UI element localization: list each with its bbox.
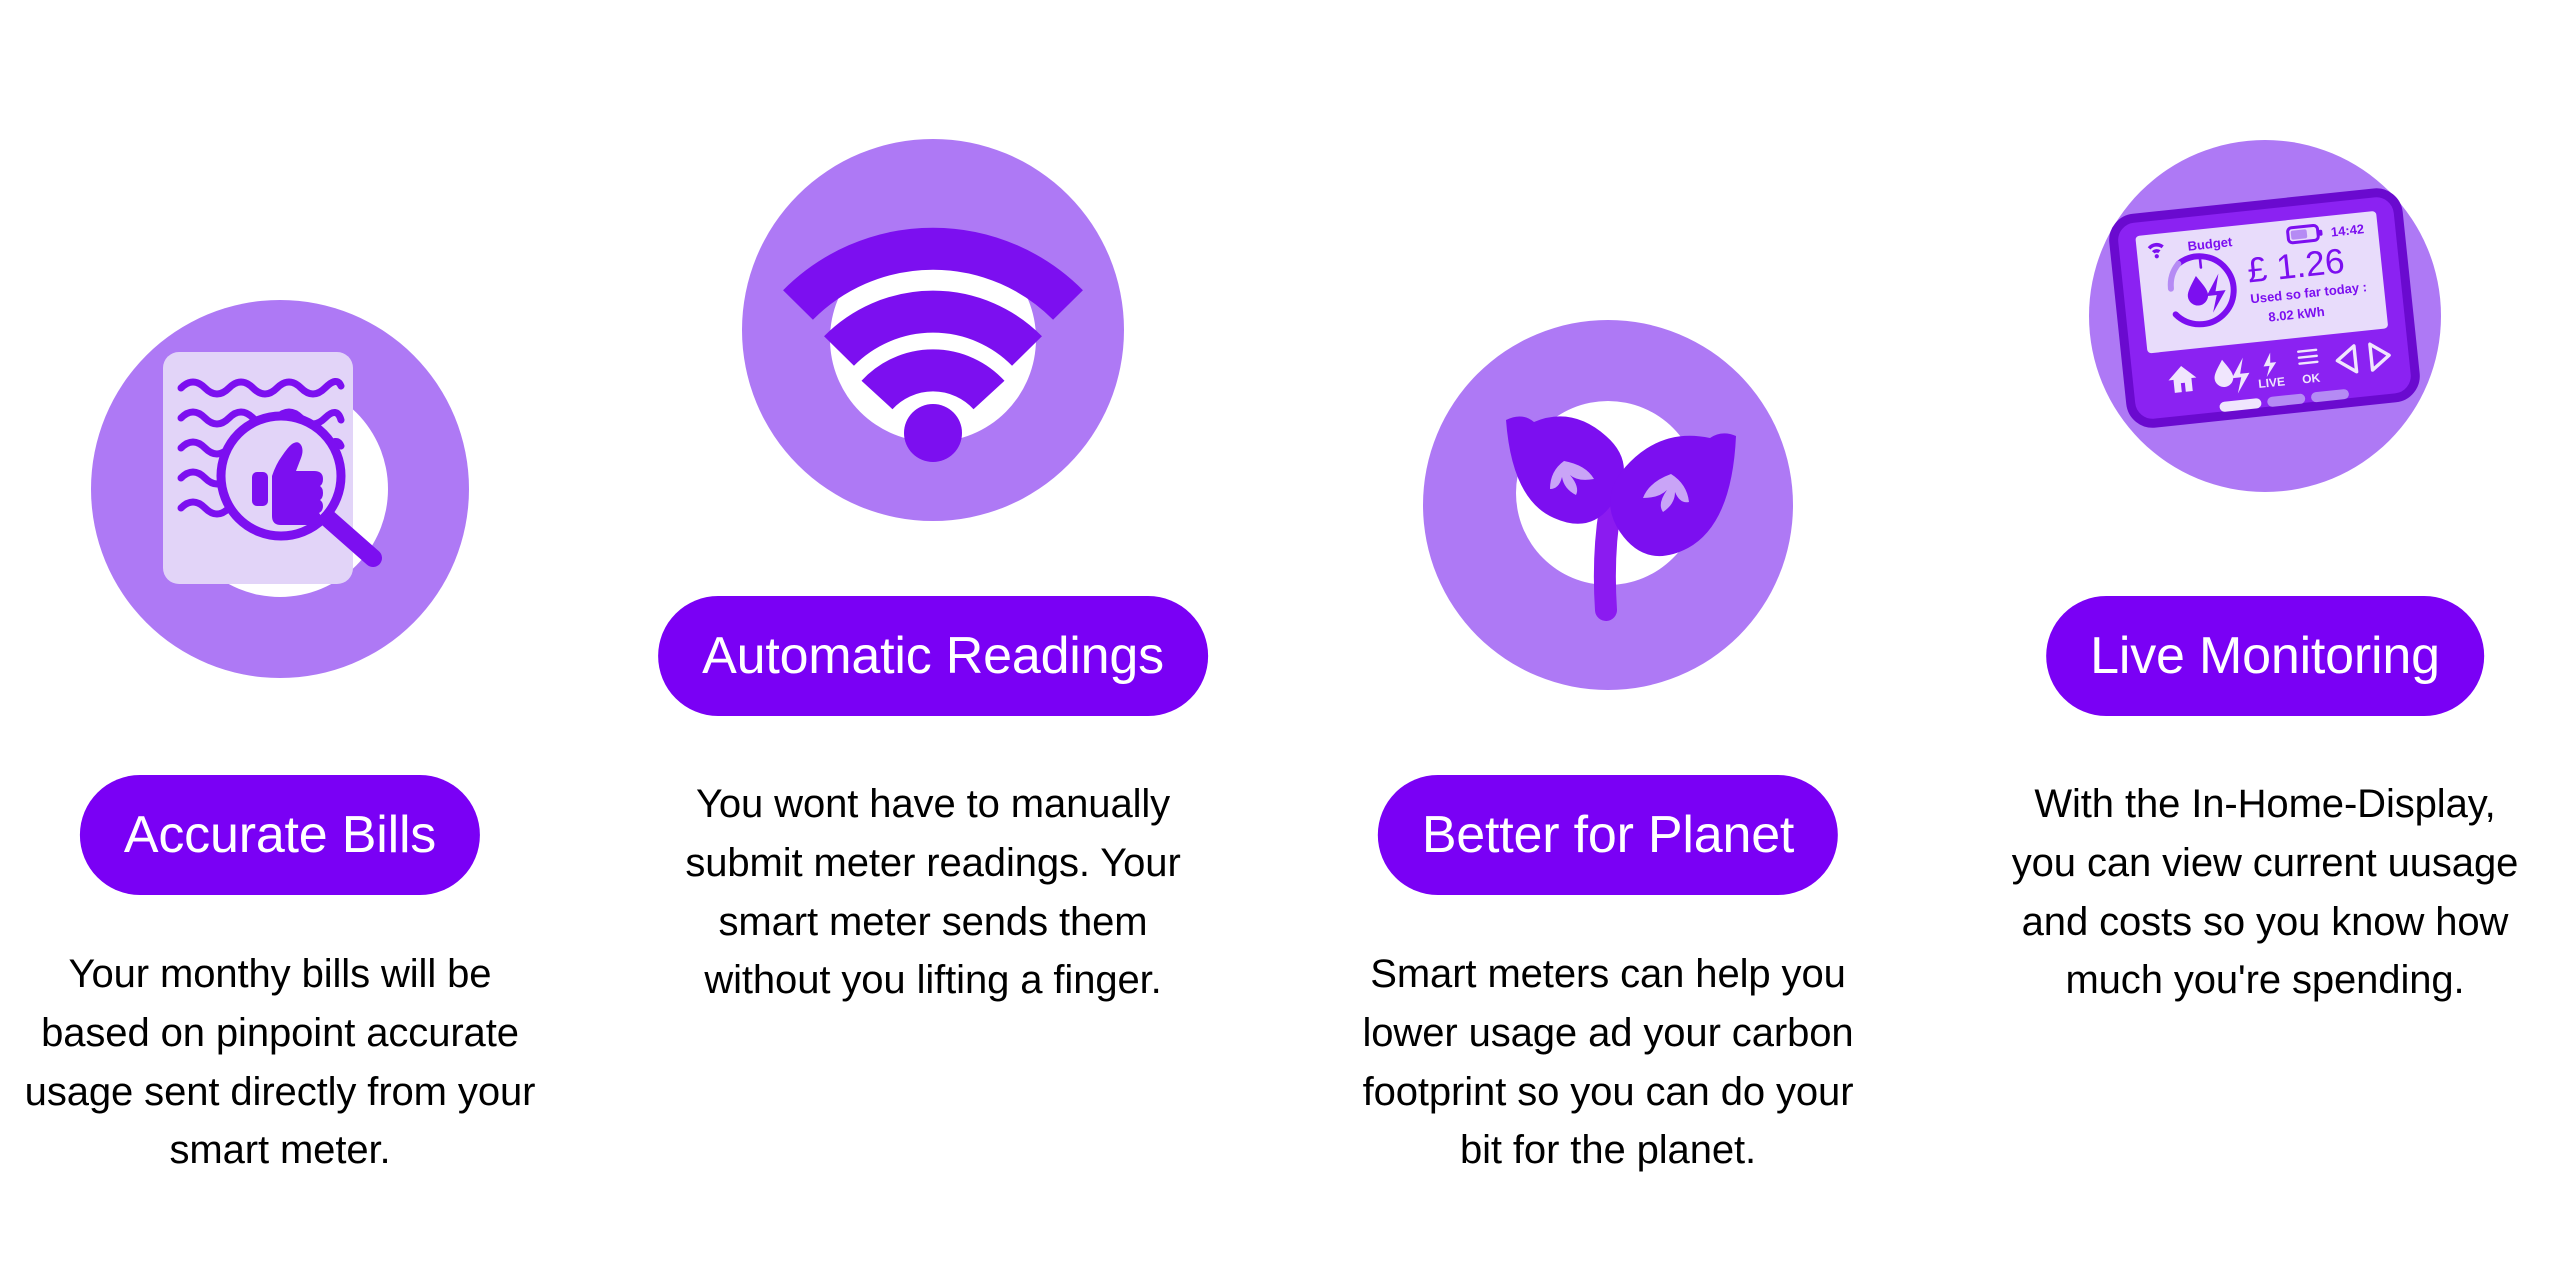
document-magnifier-thumbs-up-icon xyxy=(91,300,469,678)
icon-circle-live-monitoring: Budget 14:42 xyxy=(2089,140,2441,492)
in-home-display-device-icon: Budget 14:42 xyxy=(2100,181,2430,451)
icon-wrap-automatic-readings xyxy=(742,139,1124,521)
infographic-board: Accurate Bills Your monthy bills will be… xyxy=(0,0,2561,1282)
icon-circle-accurate-bills xyxy=(91,300,469,678)
wifi-signal-icon xyxy=(742,139,1124,521)
feature-column-accurate-bills: Accurate Bills Your monthy bills will be… xyxy=(0,0,560,1282)
icon-wrap-better-for-planet xyxy=(1423,320,1793,690)
heading-label: Accurate Bills xyxy=(124,805,436,865)
icon-wrap-accurate-bills xyxy=(91,300,469,678)
ihd-nav-ok-label: OK xyxy=(2301,371,2321,387)
body-text-accurate-bills: Your monthy bills will be based on pinpo… xyxy=(0,945,560,1180)
feature-column-automatic-readings: Automatic Readings You wont have to manu… xyxy=(653,0,1213,1282)
feature-column-live-monitoring: Budget 14:42 xyxy=(1985,0,2545,1282)
icon-wrap-live-monitoring: Budget 14:42 xyxy=(2089,140,2441,492)
body-text-better-for-planet: Smart meters can help you lower usage ad… xyxy=(1328,945,1888,1180)
heading-pill-automatic-readings[interactable]: Automatic Readings xyxy=(658,596,1208,716)
body-text-live-monitoring: With the In-Home-Display, you can view c… xyxy=(1985,775,2545,1010)
body-text-automatic-readings: You wont have to manually submit meter r… xyxy=(653,775,1213,1010)
heading-label: Live Monitoring xyxy=(2090,626,2440,686)
heading-pill-better-for-planet[interactable]: Better for Planet xyxy=(1378,775,1838,895)
feature-column-better-for-planet: Better for Planet Smart meters can help … xyxy=(1328,0,1888,1282)
leaf-plant-icon xyxy=(1423,320,1793,690)
icon-circle-automatic-readings xyxy=(742,139,1124,521)
heading-label: Automatic Readings xyxy=(702,626,1164,686)
icon-circle-better-for-planet xyxy=(1423,320,1793,690)
heading-pill-live-monitoring[interactable]: Live Monitoring xyxy=(2046,596,2484,716)
ihd-nav-live-label: LIVE xyxy=(2258,374,2286,391)
heading-label: Better for Planet xyxy=(1422,805,1794,865)
heading-pill-accurate-bills[interactable]: Accurate Bills xyxy=(80,775,480,895)
